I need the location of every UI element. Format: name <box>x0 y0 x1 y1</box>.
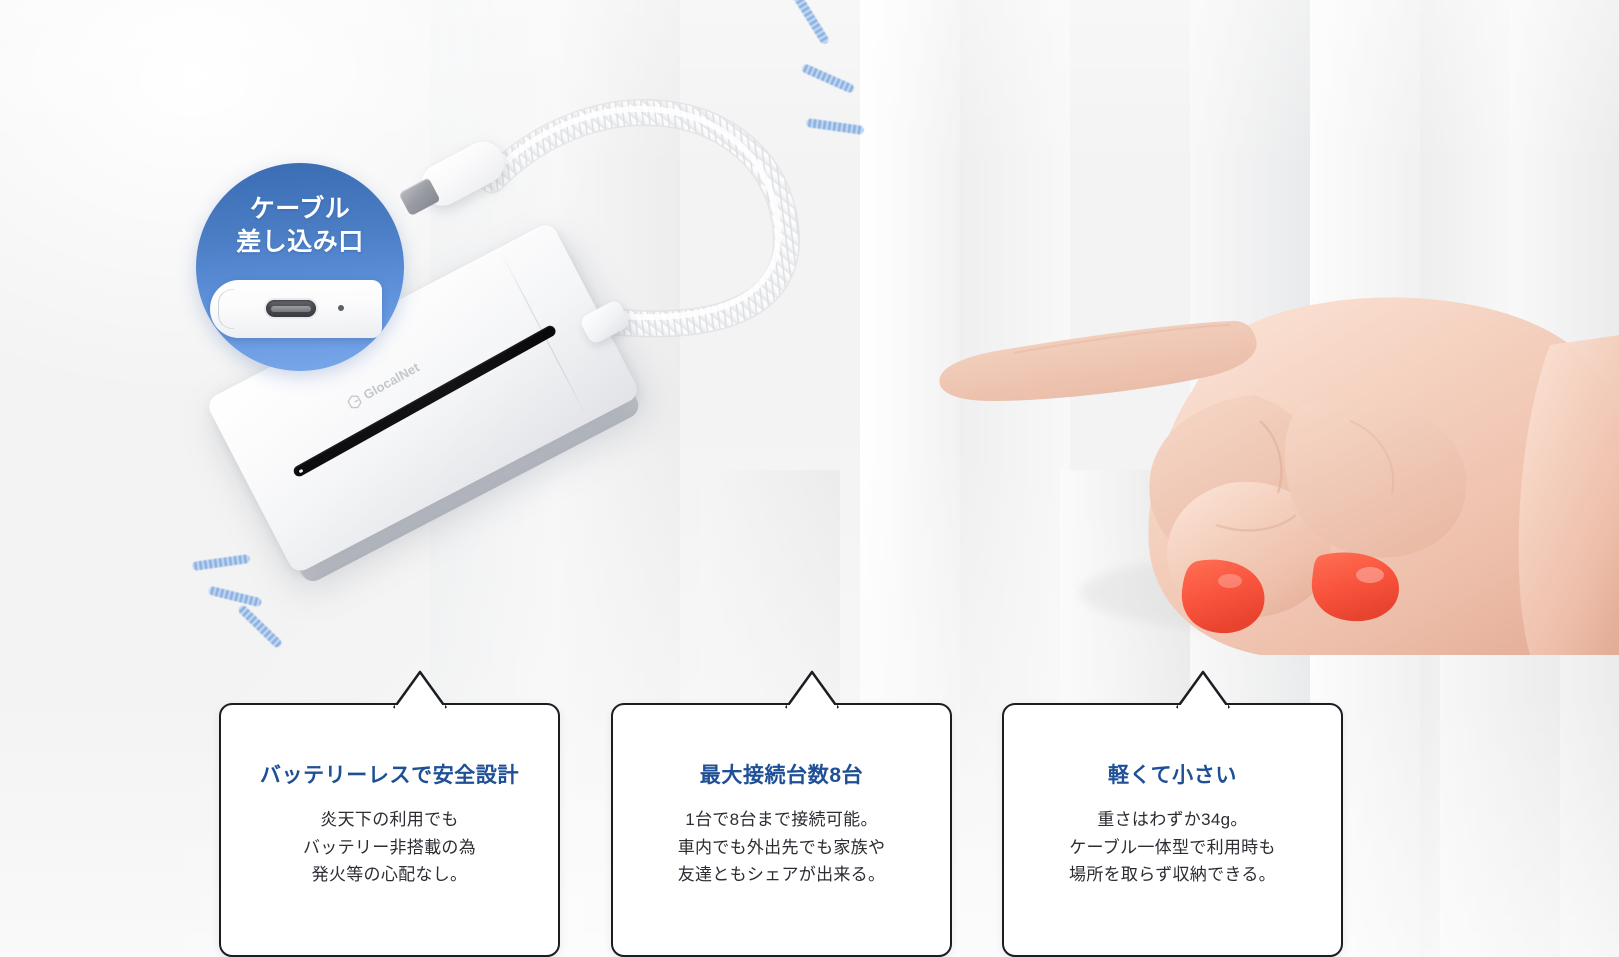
feature-line: 友達ともシェアが出来る。 <box>613 861 950 889</box>
feature-line: ケーブル一体型で利用時も <box>1004 834 1341 862</box>
pointing-hand-photo <box>930 225 1619 655</box>
product-feature-page: GlocalNet ケーブル 差し込み口 <box>0 0 1619 957</box>
feature-title: 軽くて小さい <box>1004 759 1341 789</box>
badge-label: ケーブル 差し込み口 <box>196 193 404 259</box>
feature-line: 車内でも外出先でも家族や <box>613 834 950 862</box>
feature-line: バッテリー非搭載の為 <box>221 834 558 862</box>
port-housing-edge <box>218 289 234 329</box>
status-led-icon <box>338 305 344 311</box>
feature-card-battery-free[interactable]: バッテリーレスで安全設計 炎天下の利用でも バッテリー非搭載の為 発火等の心配な… <box>219 703 560 957</box>
cable-port-callout-badge: ケーブル 差し込み口 <box>196 163 404 371</box>
feature-line: 発火等の心配なし。 <box>221 861 558 889</box>
feature-line: 炎天下の利用でも <box>221 806 558 834</box>
usb-c-port-inner <box>271 306 311 312</box>
hand-illustration <box>930 225 1619 655</box>
feature-description: 炎天下の利用でも バッテリー非搭載の為 発火等の心配なし。 <box>221 806 558 889</box>
feature-title: バッテリーレスで安全設計 <box>221 759 558 789</box>
feature-card-max-devices[interactable]: 最大接続台数8台 1台で8台まで接続可能。 車内でも外出先でも家族や 友達ともシ… <box>611 703 952 957</box>
router-led-dot <box>298 469 303 474</box>
feature-line: 1台で8台まで接続可能。 <box>613 806 950 834</box>
feature-line: 重さはわずか34g。 <box>1004 806 1341 834</box>
feature-card-light-and-small[interactable]: 軽くて小さい 重さはわずか34g。 ケーブル一体型で利用時も 場所を取らず収納で… <box>1002 703 1343 957</box>
feature-description: 1台で8台まで接続可能。 車内でも外出先でも家族や 友達ともシェアが出来る。 <box>613 806 950 889</box>
feature-callout-row: バッテリーレスで安全設計 炎天下の利用でも バッテリー非搭載の為 発火等の心配な… <box>0 669 1619 957</box>
badge-label-line1: ケーブル <box>196 193 404 226</box>
badge-label-line2: 差し込み口 <box>196 226 404 259</box>
usb-c-port-icon <box>266 300 316 317</box>
usb-c-port-photo <box>210 280 382 338</box>
feature-line: 場所を取らず収納できる。 <box>1004 861 1341 889</box>
feature-title: 最大接続台数8台 <box>613 759 950 789</box>
feature-description: 重さはわずか34g。 ケーブル一体型で利用時も 場所を取らず収納できる。 <box>1004 806 1341 889</box>
